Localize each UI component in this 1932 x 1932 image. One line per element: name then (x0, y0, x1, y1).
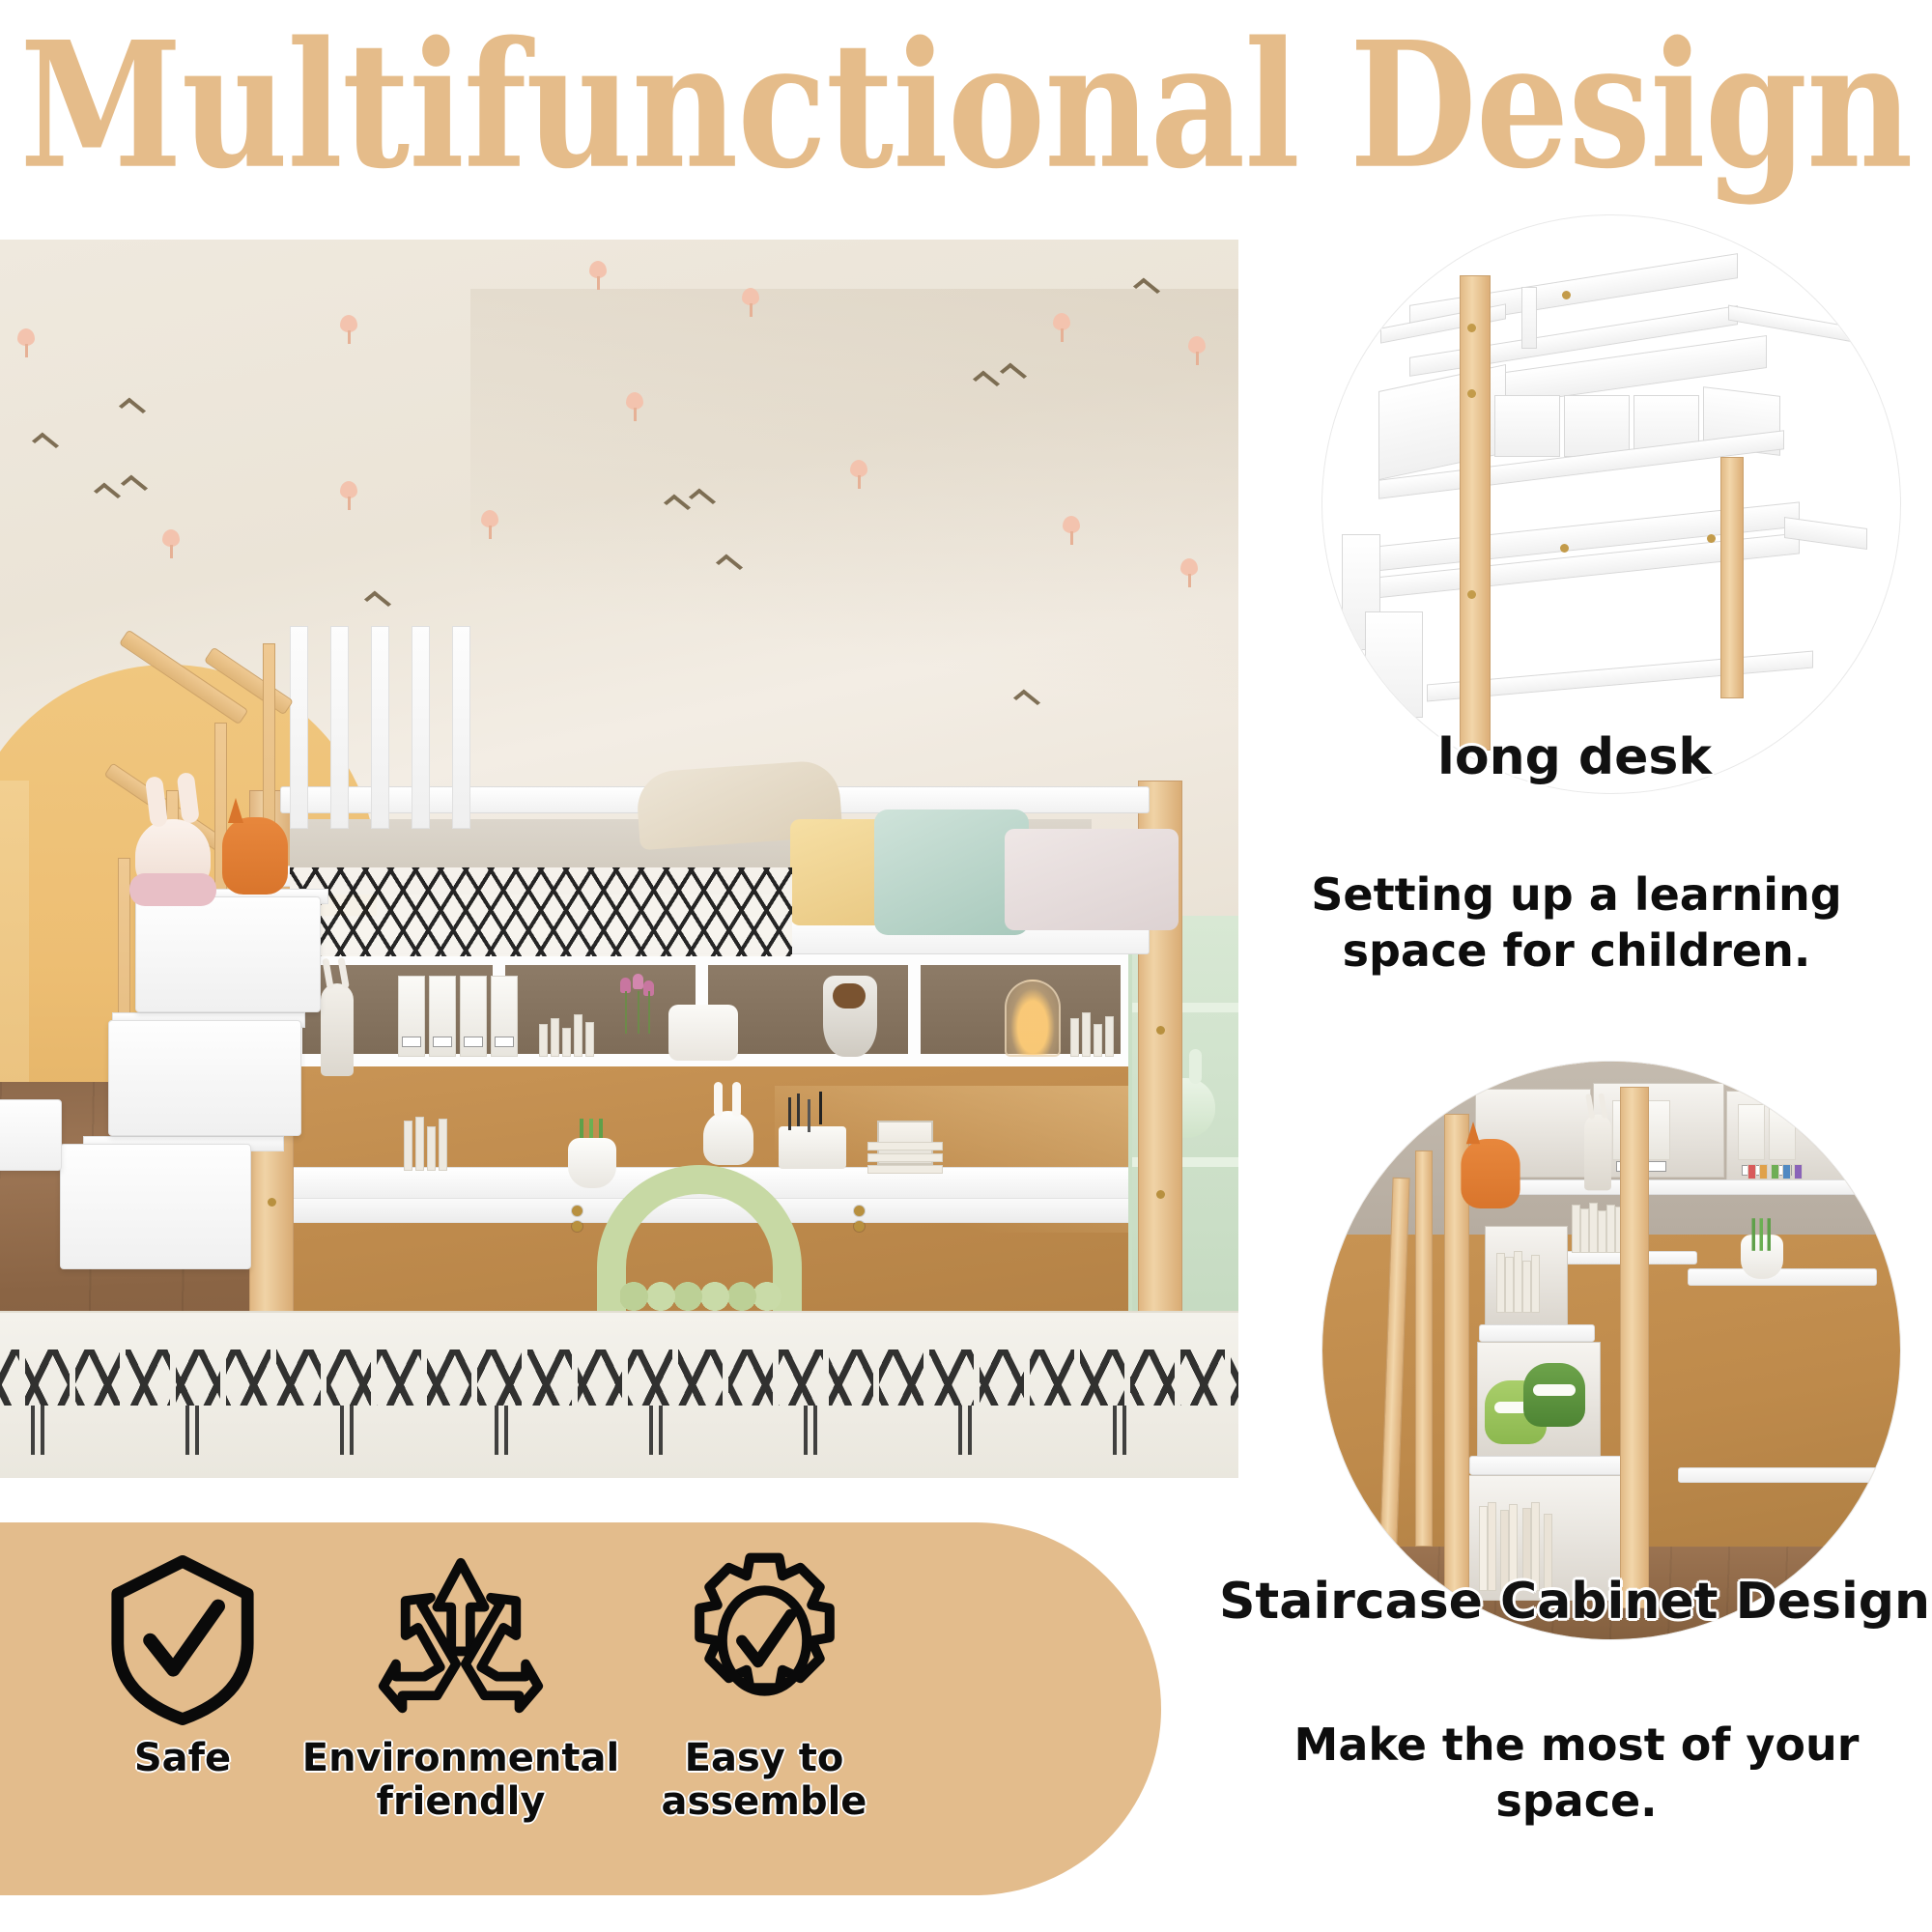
bunny-figurine (321, 983, 354, 1076)
wall-decal-balloon (626, 392, 643, 413)
shelf-book-stack (1070, 1012, 1114, 1057)
wall-decal-balloon (1188, 336, 1206, 357)
inset-wood-post-mid (1620, 1087, 1649, 1608)
stair-cube-tread (1479, 1324, 1595, 1342)
wall-decal-balloon (1063, 516, 1080, 537)
description-staircase: Make the most of your space. (1238, 1718, 1915, 1829)
wall-decal-balloon (340, 315, 357, 336)
desk-screw (572, 1206, 582, 1216)
shelf-divider (908, 965, 921, 1054)
inset-desk-shelf (1688, 1268, 1877, 1286)
rug-diamond-pattern (0, 1406, 1238, 1455)
inset-fox-plush (1461, 1139, 1520, 1208)
desk-book-stack (404, 1117, 447, 1171)
rabbit-figurine (703, 1111, 753, 1165)
inset-lower-trim (1678, 1467, 1881, 1483)
stair-cube-books (1496, 1251, 1540, 1318)
wall-decal-balloon (589, 261, 607, 282)
caption-long-desk: long desk (1217, 728, 1932, 786)
stair-drawer-step[interactable] (135, 896, 321, 1012)
frame-screw (1562, 291, 1571, 299)
description-long-desk: Setting up a learning space for children… (1238, 867, 1915, 979)
description-line: Make the most of your (1238, 1718, 1915, 1774)
frame-screw (1560, 544, 1569, 553)
bear-planter-pot (668, 1005, 738, 1061)
magazine-file-boxes (398, 976, 518, 1057)
page-title: Multifunctional Design (0, 2, 1932, 207)
stair-gate-slat (412, 626, 430, 829)
inset-stair-baluster (1415, 1151, 1433, 1547)
caption-staircase: Staircase Cabinet Design (1217, 1573, 1932, 1631)
chair-bead-detail (620, 1281, 782, 1312)
chevron-blanket (290, 867, 792, 956)
stair-cube-tread (1469, 1456, 1630, 1475)
side-table (0, 1099, 62, 1171)
inset-marker-set (1747, 1151, 1803, 1179)
wall-decal-balloon (162, 529, 180, 551)
desk-screw (572, 1221, 582, 1232)
glass-dome-lamp (1005, 980, 1061, 1057)
hero-room-photo (0, 240, 1238, 1478)
wall-decal-balloon (17, 328, 35, 350)
desk-screw (854, 1221, 865, 1232)
cabinet-box (1365, 611, 1423, 718)
wall-decal-balloon (1180, 558, 1198, 580)
frame-screw (1707, 534, 1716, 543)
shelf-cubby (1494, 395, 1560, 457)
wall-decal-balloon (742, 288, 759, 309)
desk-screw (854, 1206, 865, 1216)
recycle-icon (374, 1549, 548, 1731)
inset-bunny-figurine (1584, 1115, 1611, 1191)
area-rug (0, 1311, 1238, 1478)
stair-gate-slat (371, 626, 389, 829)
wall-decal-balloon (1053, 313, 1070, 334)
astronaut-figurine (823, 976, 877, 1057)
wood-post-right (1720, 457, 1744, 698)
stair-drawer-step[interactable] (60, 1144, 251, 1269)
stair-gate-slat (290, 626, 308, 829)
bunny-plush-toy (135, 819, 211, 891)
rug-zigzag-pattern (0, 1350, 1238, 1406)
wall-decal-balloon (850, 460, 867, 481)
stair-drawer-step[interactable] (108, 1020, 301, 1136)
feature-label-safe: Safe (134, 1737, 231, 1780)
shelf-book-stack (539, 1012, 594, 1057)
inset-plant-leaves (1746, 1218, 1778, 1251)
feature-badge-bar: Safe Environmental friendly Easy to (0, 1522, 1161, 1895)
desk-plant-pot (568, 1138, 616, 1188)
pillow-white (1005, 829, 1179, 930)
description-line: Setting up a learning (1238, 867, 1915, 923)
feature-item-safe: Safe (23, 1549, 342, 1868)
inset-staircase-photo (1321, 1061, 1901, 1640)
feature-item-easy-to-assemble: Easy to assemble (605, 1549, 923, 1868)
frame-side-board (1728, 305, 1854, 343)
frame-screw (1467, 389, 1476, 398)
gear-check-icon (675, 1549, 854, 1731)
description-line: space for children. (1238, 923, 1915, 980)
fox-plush-toy (222, 817, 288, 895)
shield-check-icon (105, 1549, 260, 1731)
wood-post-left (1460, 275, 1491, 751)
description-line: space. (1238, 1774, 1915, 1830)
stair-gate-slat (452, 626, 470, 829)
shelf-cubby (1564, 395, 1630, 457)
inset-long-desk-photo (1321, 214, 1901, 794)
feature-label-environmental-friendly: Environmental friendly (302, 1737, 619, 1824)
pencil-holder (779, 1126, 846, 1169)
desk-flat-books (867, 1142, 943, 1174)
frame-vertical-slat (1521, 287, 1537, 349)
feature-item-environmental-friendly: Environmental friendly (301, 1549, 620, 1868)
upper-shelf-board (1467, 1179, 1873, 1195)
frame-screw (1467, 324, 1476, 332)
wall-decal-balloon (340, 481, 357, 502)
wall-decal-balloon (481, 510, 498, 531)
frame-screw (1467, 590, 1476, 599)
feature-label-easy-to-assemble: Easy to assemble (662, 1737, 867, 1824)
tulips-in-vase (614, 978, 657, 1045)
wall-shadow (470, 289, 1238, 710)
dinosaur-plush-green (1523, 1363, 1585, 1427)
stair-gate-slat (330, 626, 349, 829)
inset-book-row (1572, 1203, 1624, 1258)
